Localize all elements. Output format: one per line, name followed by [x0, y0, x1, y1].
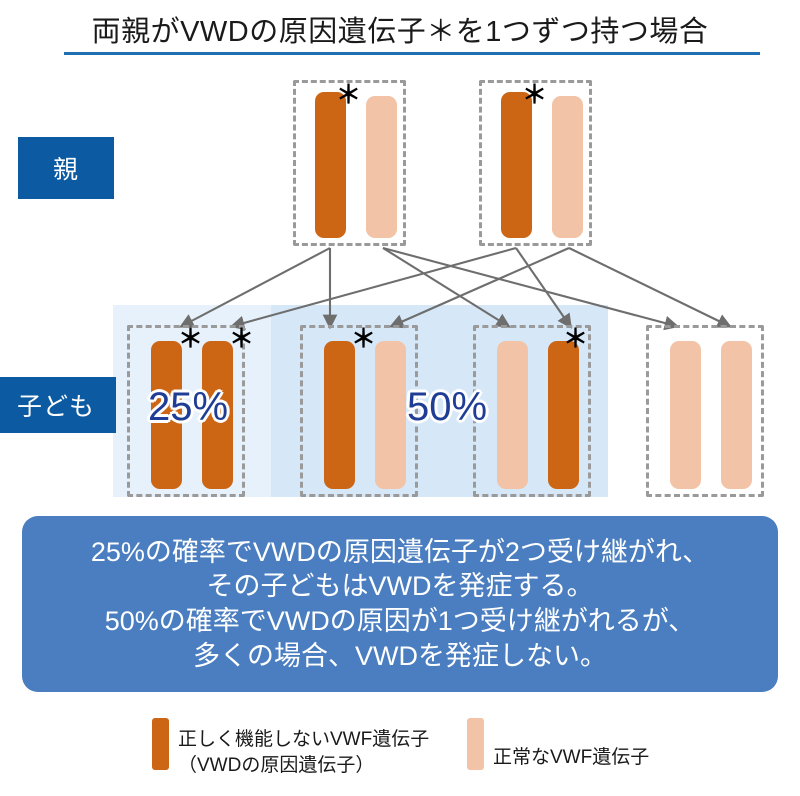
parent-1-gene-2 — [366, 96, 397, 238]
child-4-gene-2 — [721, 341, 752, 489]
child-3-gene-2-asterisk: ＊ — [563, 326, 588, 351]
child-1-gene-2-asterisk: ＊ — [229, 326, 254, 351]
row-label-child: 子ども — [0, 377, 116, 433]
child-3-gene-2 — [548, 341, 579, 489]
child-2-gene-2 — [375, 341, 406, 489]
legend-label-mutated-gene-line2: （VWDの原因遺伝子） — [178, 753, 429, 779]
percent-label-carrier: 50% — [407, 385, 487, 430]
parent-2-gene-1-asterisk: ＊ — [522, 82, 547, 107]
legend-label-normal-gene: 正常なVWF遺伝子 — [493, 745, 649, 771]
summary-message-box: 25%の確率でVWDの原因遺伝子が2つ受け継がれ、 その子どもはVWDを発症する… — [22, 516, 778, 692]
row-label-parent: 親 — [18, 137, 114, 199]
legend-swatch-normal-gene — [467, 718, 484, 770]
parent-2-gene-1 — [501, 92, 532, 238]
percent-label-affected: 25% — [148, 385, 228, 430]
parent-1-gene-1 — [315, 92, 346, 238]
child-2-gene-1-asterisk: ＊ — [351, 326, 376, 351]
child-4-gene-1 — [670, 341, 701, 489]
legend-swatch-mutated-gene — [152, 718, 169, 770]
legend-label-mutated-gene-line1: 正しく機能しないVWF遺伝子 — [178, 727, 429, 753]
summary-line-1: 25%の確率でVWDの原因遺伝子が2つ受け継がれ、 — [91, 535, 709, 570]
parent-1-gene-1-asterisk: ＊ — [336, 82, 361, 107]
child-3-gene-1 — [497, 341, 528, 489]
child-2-gene-1 — [324, 341, 355, 489]
summary-line-3: 50%の確率でVWDの原因が1つ受け継がれるが、 — [105, 604, 696, 639]
parent-2-gene-2 — [552, 96, 583, 238]
summary-line-4: 多くの場合、VWDを発症しない。 — [193, 639, 607, 674]
child-1-gene-1-asterisk: ＊ — [178, 326, 203, 351]
inheritance-diagram: 両親がVWDの原因遺伝子＊を1つずつ持つ場合 親 子ども ＊ — [0, 0, 800, 796]
title-underline — [64, 52, 760, 55]
page-title: 両親がVWDの原因遺伝子＊を1つずつ持つ場合 — [0, 8, 800, 50]
legend-label-mutated-gene: 正しく機能しないVWF遺伝子 （VWDの原因遺伝子） — [178, 727, 429, 778]
summary-line-2: その子どもはVWDを発症する。 — [207, 569, 594, 604]
